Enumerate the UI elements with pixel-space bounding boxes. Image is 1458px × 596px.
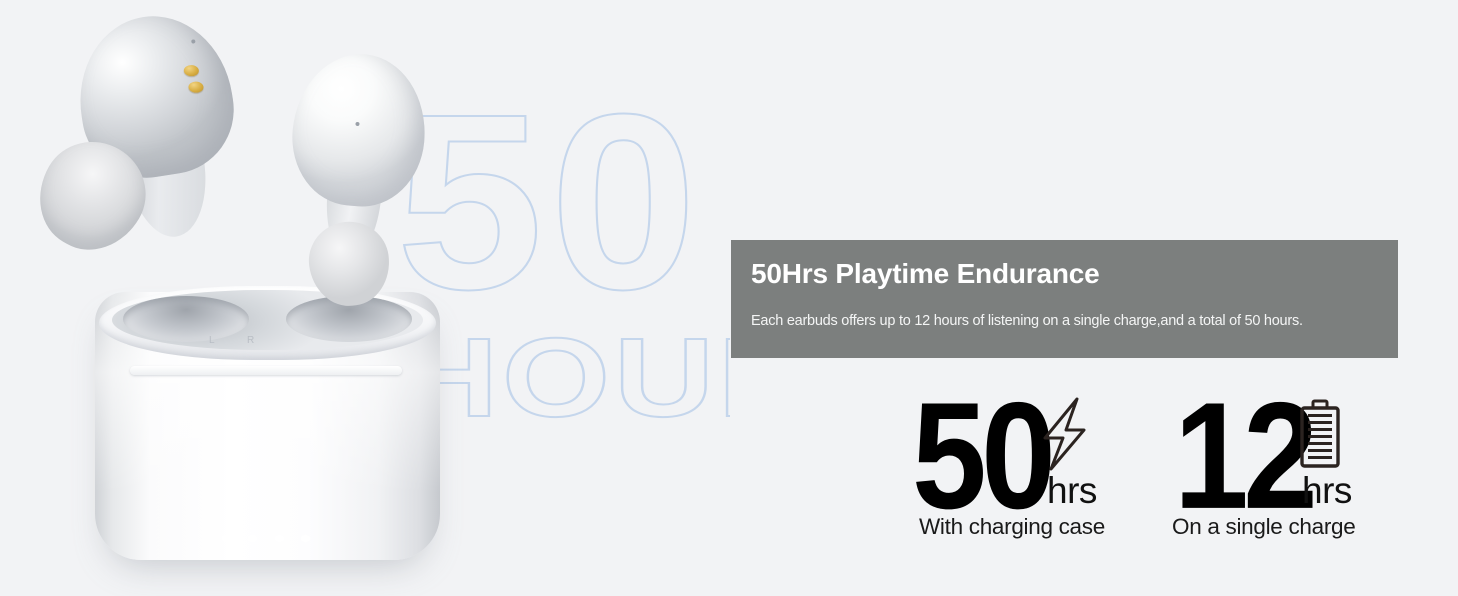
banner-subtitle: Each earbuds offers up to 12 hours of li…: [751, 313, 1303, 329]
stat-playtime-unit: hrs: [1047, 470, 1097, 512]
charging-case-led-indicators: [222, 534, 310, 543]
right-earbud: [281, 49, 432, 280]
cradle-label-right: R: [247, 335, 255, 346]
stat-playtime-value: 50: [912, 380, 1050, 532]
stat-single-charge-value: 12: [1174, 380, 1312, 532]
charging-case-lid-seam: [130, 366, 402, 375]
product-photo: 50 HOURS L R: [0, 0, 730, 596]
product-feature-page: 50 HOURS L R: [0, 0, 1458, 596]
battery-icon: [1296, 398, 1344, 477]
watermark-hours: HOURS: [398, 330, 730, 426]
banner-title: 50Hrs Playtime Endurance: [751, 258, 1099, 290]
led-dot: [248, 535, 257, 542]
led-dot: [275, 535, 284, 542]
cradle-label-left: L: [209, 335, 216, 346]
feature-banner: 50Hrs Playtime Endurance Each earbuds of…: [731, 240, 1398, 358]
watermark-50: 50: [396, 94, 703, 309]
stat-single-charge-unit: hrs: [1302, 470, 1352, 512]
charging-case-cradle-left: [123, 296, 249, 342]
stat-playtime: 50 hrs With charging case: [890, 386, 1140, 556]
stat-single-charge-caption: On a single charge: [1172, 514, 1355, 540]
led-dot: [222, 535, 231, 542]
right-earbud-body: [287, 49, 432, 212]
stat-playtime-caption: With charging case: [919, 514, 1105, 540]
stat-single-charge-figure: 12 hrs: [1152, 386, 1402, 514]
stat-single-charge: 12 hrs On a single cha: [1152, 386, 1402, 556]
stats-row: 50 hrs With charging case 12: [880, 386, 1400, 556]
led-dot: [301, 535, 310, 542]
stat-playtime-figure: 50 hrs: [890, 386, 1140, 514]
lightning-bolt-icon: [1036, 396, 1092, 477]
